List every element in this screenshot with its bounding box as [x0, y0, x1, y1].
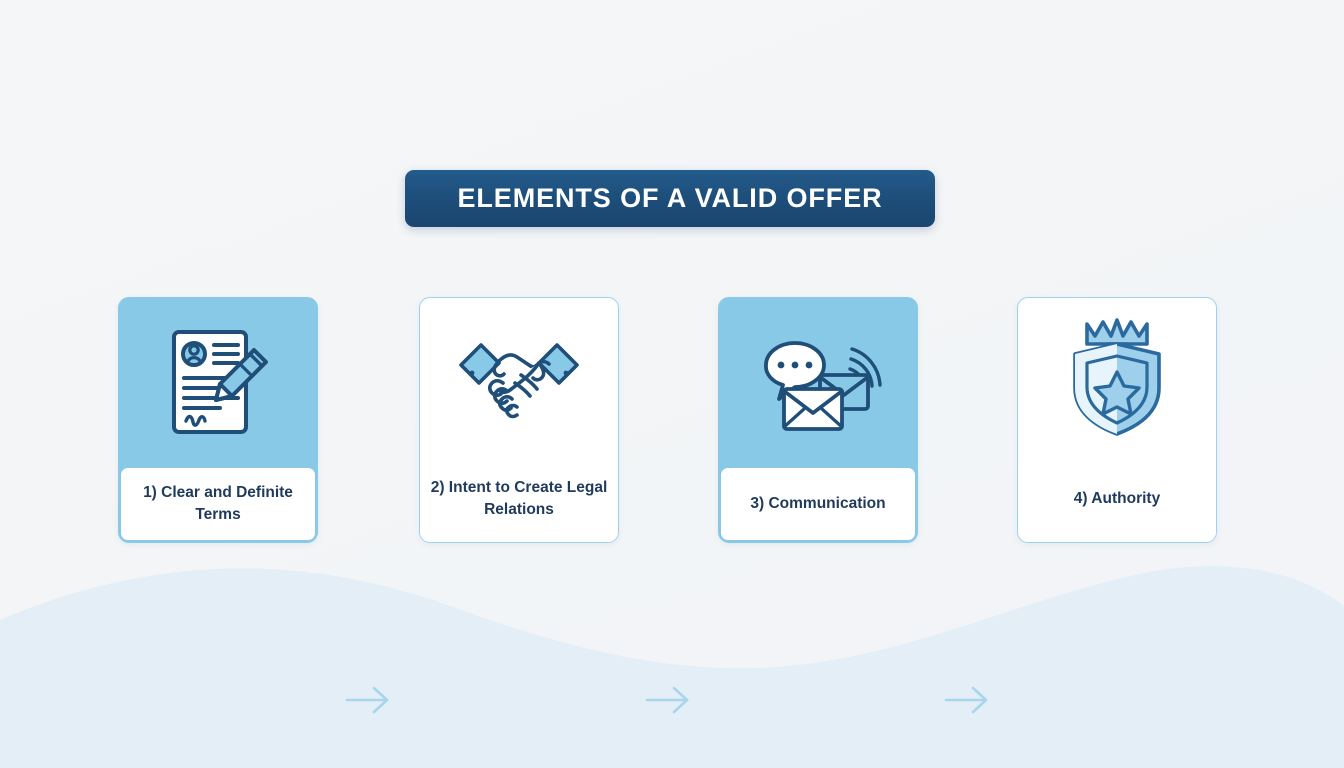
flow-card-4-label-area: 4) Authority	[1018, 456, 1216, 542]
flow-card-2[interactable]: 2) Intent to Create Legal Relations	[419, 297, 619, 543]
flow-card-3-icon-area	[719, 298, 917, 468]
flow-card-1-label: 1) Clear and Definite Terms	[131, 482, 305, 526]
handshake-icon	[455, 329, 583, 425]
flow-card-1-icon-area	[119, 298, 317, 468]
flow-card-1[interactable]: 1) Clear and Definite Terms	[118, 297, 318, 543]
page-title-banner: ELEMENTS OF A VALID OFFER	[405, 170, 935, 227]
flow-card-2-label-area: 2) Intent to Create Legal Relations	[420, 456, 618, 542]
arrow-3-to-4	[942, 679, 992, 721]
flow-card-3-label-area: 3) Communication	[721, 468, 915, 540]
flow-card-2-icon-area	[420, 298, 618, 456]
flow-card-4-icon-area	[1018, 298, 1216, 456]
bottom-wave-decoration	[0, 528, 1344, 768]
shield-crown-star-icon	[1065, 316, 1169, 438]
flow-card-2-label: 2) Intent to Create Legal Relations	[430, 477, 608, 521]
arrow-2-to-3	[643, 679, 693, 721]
flow-card-row: 1) Clear and Definite Terms	[0, 297, 1344, 543]
speech-bubble-envelope-icon	[754, 331, 882, 435]
document-signature-icon	[158, 324, 278, 442]
flow-card-3[interactable]: 3) Communication	[718, 297, 918, 543]
page-title: ELEMENTS OF A VALID OFFER	[458, 183, 883, 214]
flow-card-4-label: 4) Authority	[1074, 488, 1160, 510]
flow-card-1-label-area: 1) Clear and Definite Terms	[121, 468, 315, 540]
flow-card-4[interactable]: 4) Authority	[1017, 297, 1217, 543]
arrow-1-to-2	[343, 679, 393, 721]
flow-card-3-label: 3) Communication	[750, 493, 885, 515]
